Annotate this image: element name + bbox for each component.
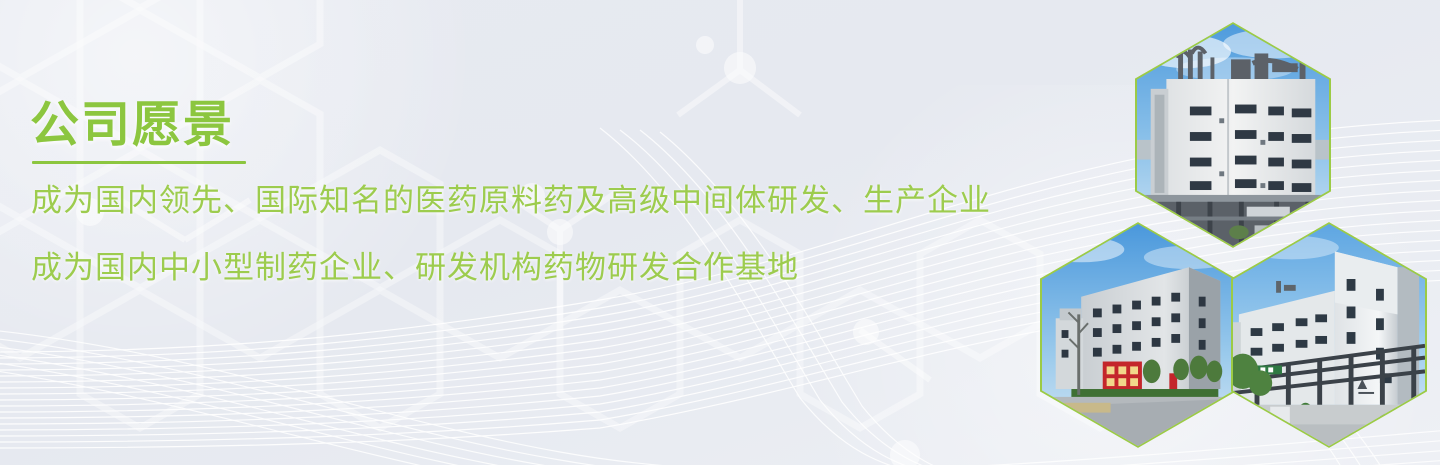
page-title: 公司愿景 (30, 100, 234, 152)
vision-text-block: 公司愿景 成为国内领先、国际知名的医药原料药及高级中间体研发、生产企业 成为国内… (30, 100, 1070, 287)
title-underline (32, 161, 246, 164)
vision-statement-line-2: 成为国内中小型制药企业、研发机构药物研发合作基地 (31, 249, 1070, 288)
vision-statement-line-1: 成为国内领先、国际知名的医药原料药及高级中间体研发、生产企业 (31, 182, 1070, 221)
company-vision-banner: 公司愿景 成为国内领先、国际知名的医药原料药及高级中间体研发、生产企业 成为国内… (0, 0, 1440, 465)
